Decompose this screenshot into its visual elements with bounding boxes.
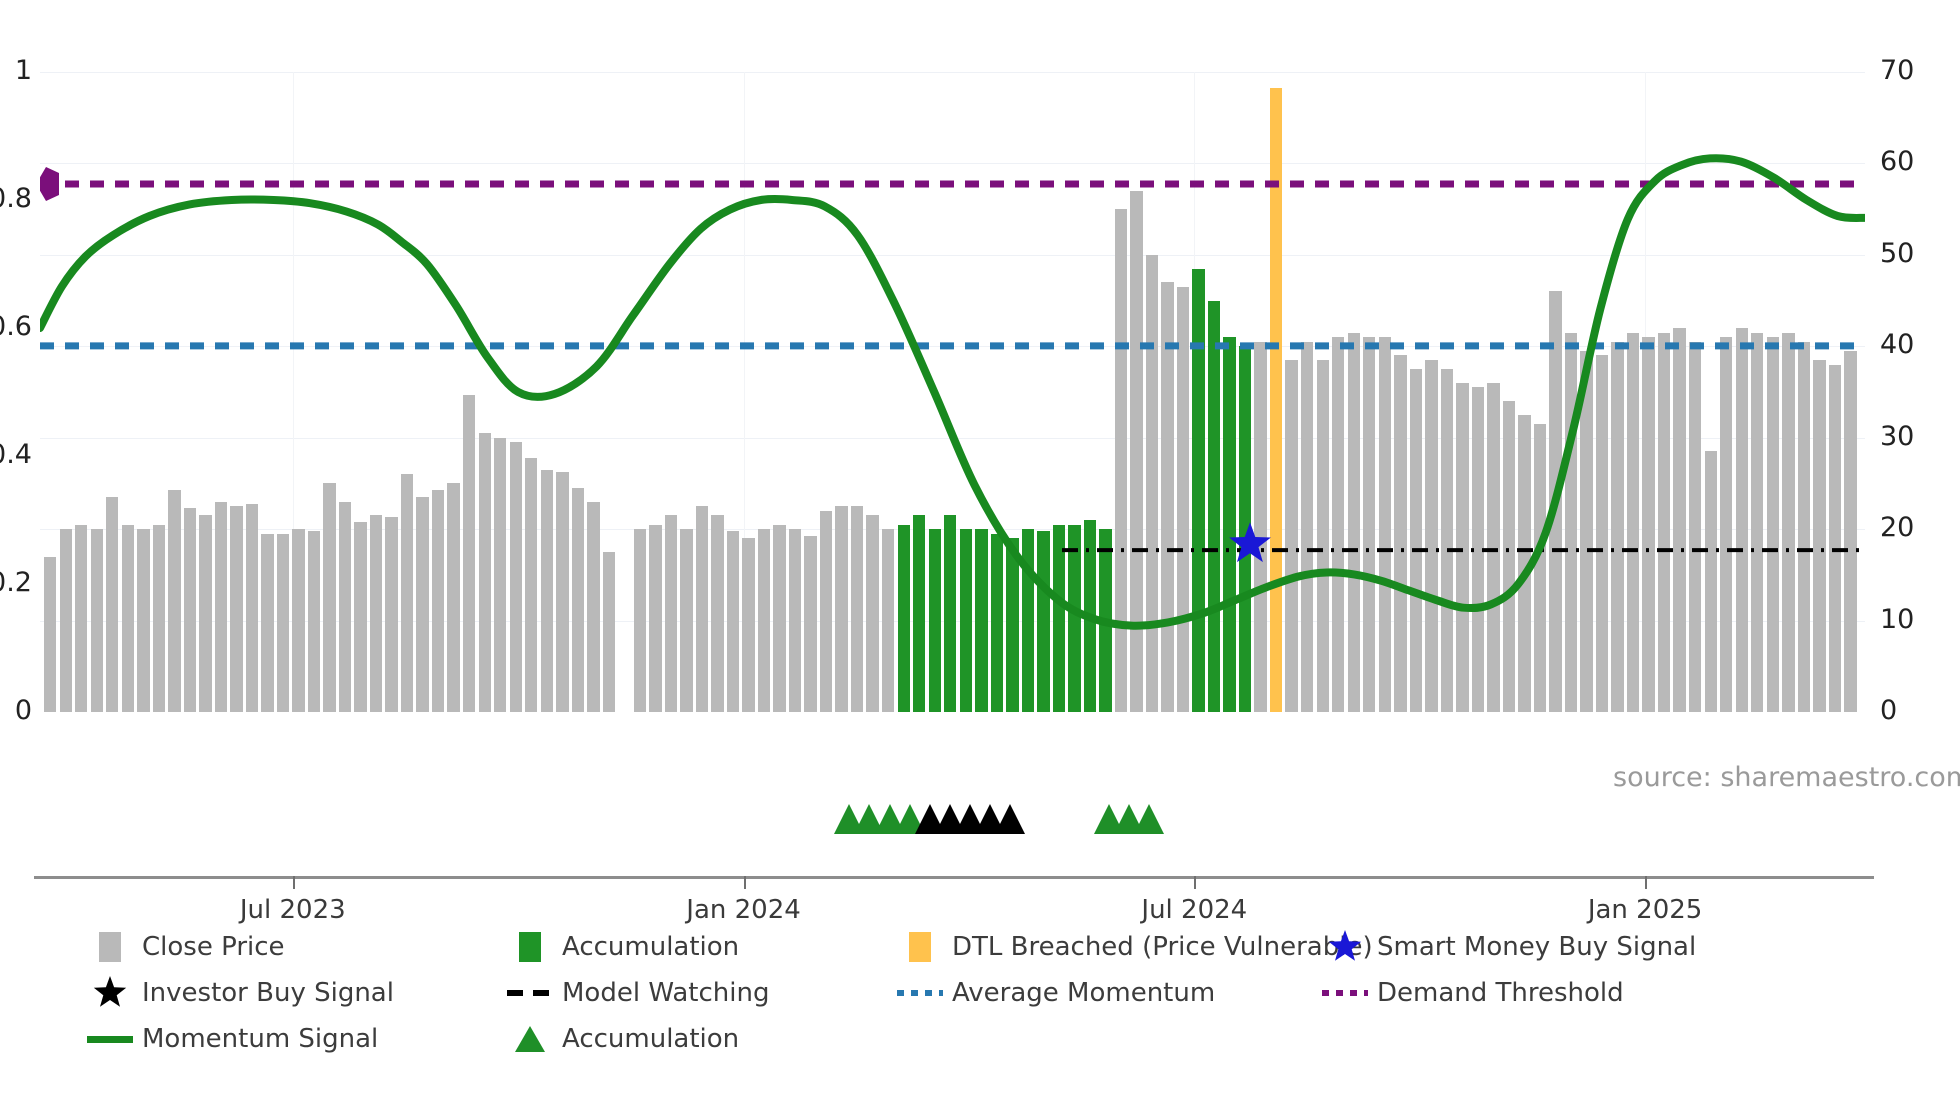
legend-row: Momentum SignalAccumulation — [78, 1020, 1938, 1058]
chart-legend: Close PriceAccumulationDTL Breached (Pri… — [78, 928, 1938, 1066]
legend-item[interactable]: Demand Threshold — [1313, 978, 1733, 1008]
swatch-rect-icon — [519, 932, 541, 962]
dtl-breached-swatch — [888, 932, 952, 962]
x-axis-tick-mark — [293, 876, 295, 889]
legend-item-label: Smart Money Buy Signal — [1377, 932, 1696, 962]
smart-money-star-swatch — [1313, 929, 1377, 965]
swatch-rect-icon — [909, 932, 931, 962]
legend-item-label: Accumulation — [562, 1024, 739, 1054]
legend-row: Close PriceAccumulationDTL Breached (Pri… — [78, 928, 1938, 966]
x-axis-tick-label: Jul 2024 — [1141, 895, 1247, 925]
accumulation-bar-swatch — [498, 932, 562, 962]
x-axis-tick-label: Jul 2023 — [240, 895, 346, 925]
series-overlay — [40, 72, 1865, 712]
legend-item[interactable]: Momentum Signal — [78, 1024, 498, 1054]
x-axis-tick-mark — [1645, 876, 1647, 889]
x-axis-line — [34, 876, 1874, 879]
legend-row: Investor Buy SignalModel WatchingAverage… — [78, 974, 1938, 1012]
y-axis-left-tick-label: 0.6 — [0, 311, 32, 342]
y-axis-right-tick-label: 10 — [1880, 604, 1914, 635]
signal-marker-row — [40, 786, 1865, 834]
x-axis-tick-label: Jan 2024 — [686, 895, 801, 925]
swatch-line-icon — [87, 1036, 133, 1043]
y-axis-left-tick-label: 0.2 — [0, 567, 32, 598]
legend-item-label: Accumulation — [562, 932, 739, 962]
y-axis-left-tick-label: 1 — [15, 55, 32, 86]
y-axis-right-tick-label: 60 — [1880, 146, 1914, 177]
momentum-signal-swatch — [78, 1036, 142, 1043]
swatch-rect-icon — [99, 932, 121, 962]
demand-threshold-marker — [40, 167, 59, 201]
y-axis-right-tick-label: 20 — [1880, 512, 1914, 543]
legend-item[interactable]: Smart Money Buy Signal — [1313, 929, 1733, 965]
x-axis-tick-label: Jan 2025 — [1588, 895, 1703, 925]
legend-item[interactable]: Average Momentum — [888, 978, 1313, 1008]
legend-item[interactable]: DTL Breached (Price Vulnerable) — [888, 932, 1313, 962]
average-momentum-swatch — [888, 990, 952, 996]
legend-item[interactable]: Accumulation — [498, 932, 888, 962]
y-axis-right-tick-label: 30 — [1880, 421, 1914, 452]
investor-buy-signal-marker — [995, 804, 1025, 834]
accumulation-triangle-marker — [1134, 804, 1164, 834]
model-watching-swatch — [498, 990, 562, 996]
source-note: source: sharemaestro.com — [1613, 762, 1960, 793]
star-icon — [92, 975, 128, 1011]
chart-root: 10.80.60.40.20 706050403020100 Jul 2023J… — [0, 0, 1960, 1102]
legend-item[interactable]: Accumulation — [498, 1024, 888, 1054]
investor-buy-star-swatch — [78, 975, 142, 1011]
x-axis-tick-mark — [1194, 876, 1196, 889]
star-icon — [1327, 929, 1363, 965]
x-axis-tick-mark — [744, 876, 746, 889]
y-axis-right-tick-label: 40 — [1880, 329, 1914, 360]
demand-threshold-swatch — [1313, 990, 1377, 996]
legend-item[interactable]: Investor Buy Signal — [78, 975, 498, 1011]
accumulation-triangle-swatch — [498, 1026, 562, 1052]
y-axis-left-tick-label: 0.4 — [0, 439, 32, 470]
momentum-signal-line — [40, 158, 1865, 625]
legend-item[interactable]: Model Watching — [498, 978, 888, 1008]
plot-clip — [40, 72, 1865, 712]
legend-item-label: DTL Breached (Price Vulnerable) — [952, 932, 1373, 962]
legend-item[interactable]: Close Price — [78, 932, 498, 962]
close-price-swatch — [78, 932, 142, 962]
legend-item-label: Investor Buy Signal — [142, 978, 394, 1008]
legend-item-label: Close Price — [142, 932, 285, 962]
y-axis-right-tick-label: 0 — [1880, 695, 1897, 726]
legend-item-label: Average Momentum — [952, 978, 1215, 1008]
triangle-icon — [515, 1026, 545, 1052]
y-axis-right-tick-label: 70 — [1880, 55, 1914, 86]
plot-area — [40, 72, 1865, 712]
swatch-dashed-icon — [507, 990, 553, 996]
y-axis-left-tick-label: 0 — [15, 695, 32, 726]
swatch-dotted-icon — [1322, 990, 1368, 996]
swatch-dotted-icon — [897, 990, 943, 996]
y-axis-left-tick-label: 0.8 — [0, 183, 32, 214]
legend-item-label: Demand Threshold — [1377, 978, 1624, 1008]
legend-item-label: Momentum Signal — [142, 1024, 378, 1054]
y-axis-right-tick-label: 50 — [1880, 238, 1914, 269]
legend-item-label: Model Watching — [562, 978, 769, 1008]
smart-money-buy-signal-marker — [1229, 522, 1271, 562]
